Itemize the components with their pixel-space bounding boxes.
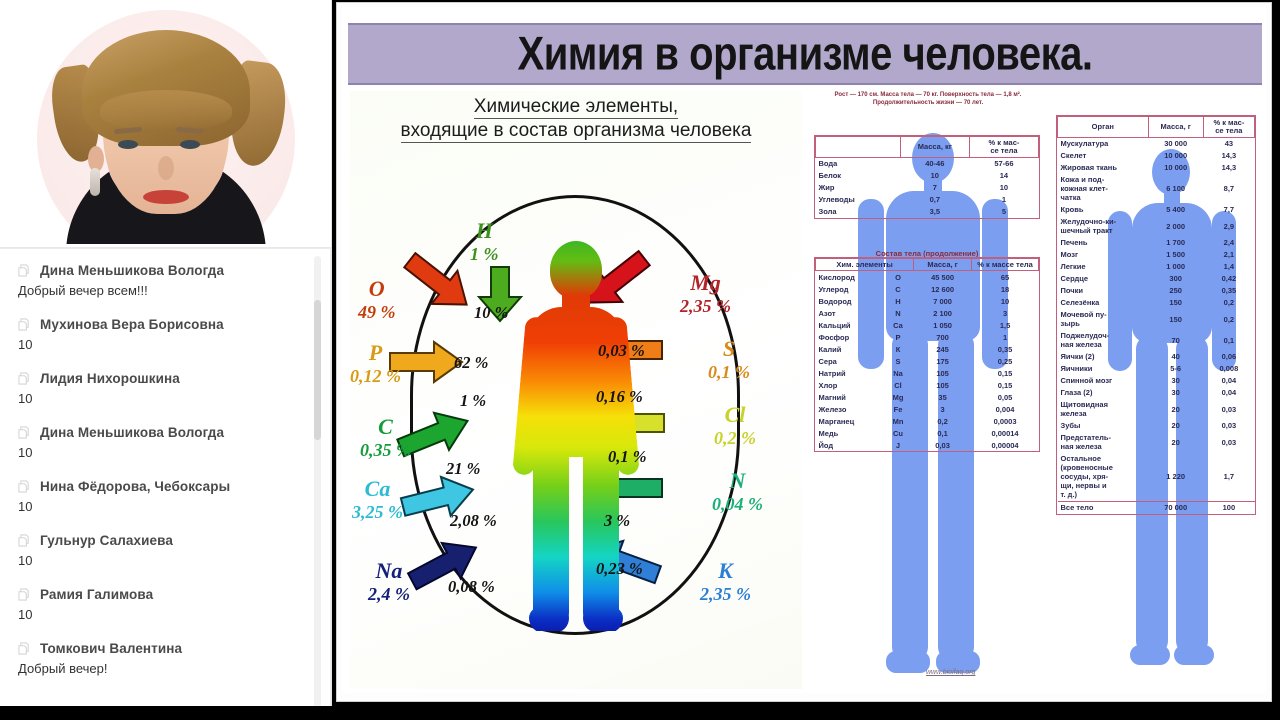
chat-scrollbar-thumb[interactable] <box>314 300 321 440</box>
inner-percent-O: 62 % <box>454 353 488 373</box>
cell-element-name: Магний <box>816 391 883 403</box>
avatar-earring <box>90 168 100 196</box>
cell-mass: 105 <box>914 379 972 391</box>
table-row: Щитовидная железа200,03 <box>1058 399 1255 420</box>
cell-element-symbol: Cu <box>882 427 913 439</box>
watermark: www.bioifaq.org <box>926 669 975 676</box>
slide-title: Химия в организме человека. <box>518 27 1093 80</box>
table-row: Почки2500,35 <box>1058 285 1255 297</box>
cell-element-symbol: К <box>882 343 913 355</box>
cell-percent: 0,15 <box>972 367 1039 379</box>
chat-message-list[interactable]: Дина Меньшикова ВологдаДобрый вечер всем… <box>0 248 331 720</box>
col-organ-mass: Масса, г <box>1148 117 1203 138</box>
cell-mass: 0,2 <box>914 415 972 427</box>
table-row: АзотN2 1003 <box>816 307 1039 319</box>
table-row: Поджелудоч- ная железа700,1 <box>1058 330 1255 351</box>
silhouette-foot-left <box>529 607 569 633</box>
body-composition-column: Рост — 170 см. Масса тела — 70 кг. Повер… <box>808 91 1048 689</box>
chat-message: 10 <box>18 553 316 568</box>
cell-value: 0,03 <box>1203 432 1254 453</box>
avatar-eye-right <box>180 140 200 149</box>
cell-value: 43 <box>1203 137 1254 150</box>
inner-percent-C: 21 % <box>446 459 480 479</box>
cell-value: 1 000 <box>1148 261 1203 273</box>
cell-value: 1 500 <box>1148 249 1203 261</box>
table-row: Яичники5-60,008 <box>1058 363 1255 375</box>
table-row: Углеводы0,71 <box>816 194 1039 206</box>
cell-value: 10 <box>969 182 1038 194</box>
arrow-P <box>390 341 464 383</box>
cell-percent: 3 <box>972 307 1039 319</box>
cell-value: 20 <box>1148 399 1203 420</box>
copy-icon[interactable] <box>18 642 31 656</box>
cell-percent: 0,15 <box>972 379 1039 391</box>
col-mass-g: Масса, г <box>914 259 972 271</box>
cell-value: 0,03 <box>1203 420 1254 432</box>
element-label-Na: Na 2,4 % <box>368 559 410 604</box>
chat-author: Нина Фёдорова, Чебоксары <box>40 479 230 494</box>
organ-table-column: Орган Масса, г % к мас- се тела Мускулат… <box>1054 91 1260 689</box>
cell-label: Глаза (2) <box>1058 387 1149 399</box>
inner-percent-N: 3 % <box>604 511 630 531</box>
cell-element-symbol: Mg <box>882 391 913 403</box>
table-header-row: Масса, кг % к мас- се тела <box>816 137 1039 158</box>
diagram-subtitle: Химические элементы, входящие в состав о… <box>350 95 802 144</box>
cell-value: 3,5 <box>900 206 969 218</box>
table-total-row: Все тело70 000100 <box>1058 501 1255 514</box>
table-row: Мускулатура30 00043 <box>1058 137 1255 150</box>
chat-author: Мухинова Вера Борисовна <box>40 317 224 332</box>
table-row: Остальное (кровеносные сосуды, хря- щи, … <box>1058 453 1255 502</box>
cell-value: 1 220 <box>1148 453 1203 502</box>
table-row: МедьCu0,10,00014 <box>816 427 1039 439</box>
element-label-H: H 1 % <box>470 219 499 264</box>
slide-title-banner: Химия в организме человека. <box>348 23 1262 85</box>
cell-value: 40 <box>1148 351 1203 363</box>
cell-value: 150 <box>1148 297 1203 309</box>
element-label-Ca: Ca 3,25 % <box>352 477 403 522</box>
chat-item[interactable]: Нина Фёдорова, Чебоксары10 <box>18 479 316 514</box>
copy-icon[interactable] <box>18 588 31 602</box>
element-label-O: O 49 % <box>358 277 396 322</box>
cell-label: Селезёнка <box>1058 297 1149 309</box>
element-label-S: S 0,1 % <box>708 337 750 382</box>
cell-value: 0,04 <box>1203 375 1254 387</box>
table-row: Мочевой пу- зырь1500,2 <box>1058 309 1255 330</box>
cell-mass: 1 050 <box>914 319 972 331</box>
cell-value: 1 <box>969 194 1038 206</box>
table-row: КислородО45 50065 <box>816 271 1039 284</box>
copy-icon[interactable] <box>18 372 31 386</box>
cell-label: Сердце <box>1058 273 1149 285</box>
element-label-P: P 0,12 % <box>350 341 401 386</box>
cell-value: 0,03 <box>1203 399 1254 420</box>
cell-value: 8,7 <box>1203 174 1254 204</box>
table-row: СераS1750,25 <box>816 355 1039 367</box>
cell-element-name: Марганец <box>816 415 883 427</box>
col-percent: % к мас- се тела <box>969 137 1038 158</box>
diagram-subtitle-line2: входящие в состав организма человека <box>401 120 752 143</box>
cell-element-symbol: Mn <box>882 415 913 427</box>
cell-value: 70 000 <box>1148 501 1203 514</box>
cell-element-symbol: Cl <box>882 379 913 391</box>
cell-value: 100 <box>1203 501 1254 514</box>
cell-value: 0,04 <box>1203 387 1254 399</box>
cell-mass: 35 <box>914 391 972 403</box>
cell-mass: 700 <box>914 331 972 343</box>
table-row: ЖелезоFe30,004 <box>816 403 1039 415</box>
chat-author: Томкович Валентина <box>40 641 182 656</box>
table-row: Жир710 <box>816 182 1039 194</box>
cell-value: 1,7 <box>1203 453 1254 502</box>
cell-label: Яички (2) <box>1058 351 1149 363</box>
inner-percent-K: 0,23 % <box>596 559 643 579</box>
cell-element-symbol: J <box>882 439 913 451</box>
copy-icon[interactable] <box>18 318 31 332</box>
table-row: Скелет10 00014,3 <box>1058 150 1255 162</box>
cell-element-name: Водород <box>816 295 883 307</box>
cell-mass: 245 <box>914 343 972 355</box>
chat-message: Добрый вечер всем!!! <box>18 283 316 298</box>
table-row: Яички (2)400,06 <box>1058 351 1255 363</box>
copy-icon[interactable] <box>18 534 31 548</box>
silhouette-leg-left <box>533 437 569 631</box>
table-row: Кожа и под- кожная клет- чатка6 1008,7 <box>1058 174 1255 204</box>
chat-item[interactable]: Мухинова Вера Борисовна10 <box>18 317 316 352</box>
table-row: Легкие1 0001,4 <box>1058 261 1255 273</box>
bottom-letterbox <box>0 706 1280 720</box>
cell-value: 14,3 <box>1203 162 1254 174</box>
cell-value: 7 <box>900 182 969 194</box>
avatar-eye-left <box>118 140 138 149</box>
cell-label: Мускулатура <box>1058 137 1149 150</box>
cell-mass: 45 500 <box>914 271 972 284</box>
inner-percent-Cl: 0,1 % <box>608 447 647 467</box>
col-mass: Масса, кг <box>900 137 969 158</box>
chat-message: Добрый вечер! <box>18 661 316 676</box>
cell-label: Жир <box>816 182 901 194</box>
cell-label: Спинной мозг <box>1058 375 1149 387</box>
table-row: Сердце3000,42 <box>1058 273 1255 285</box>
cell-value: 10 000 <box>1148 150 1203 162</box>
cell-value: 2,9 <box>1203 216 1254 237</box>
cell-element-name: Калий <box>816 343 883 355</box>
cell-value: 0,42 <box>1203 273 1254 285</box>
cell-element-symbol: S <box>882 355 913 367</box>
chat-item[interactable]: Дина Меньшикова ВологдаДобрый вечер всем… <box>18 263 316 298</box>
diagram-subtitle-line1: Химические элементы, <box>474 96 678 119</box>
cell-value: 7,7 <box>1203 204 1254 216</box>
chat-item[interactable]: Рамия Галимова10 <box>18 587 316 622</box>
cell-value: 10 <box>900 170 969 182</box>
cell-value: 20 <box>1148 432 1203 453</box>
chat-message: 10 <box>18 391 316 406</box>
col-organ: Орган <box>1058 117 1149 138</box>
cell-percent: 10 <box>972 295 1039 307</box>
cell-label: Желудочно-ки- шечный тракт <box>1058 216 1149 237</box>
cell-percent: 0,004 <box>972 403 1039 415</box>
cell-element-name: Кальций <box>816 319 883 331</box>
cell-value: 70 <box>1148 330 1203 351</box>
cell-percent: 1 <box>972 331 1039 343</box>
cell-element-name: Железо <box>816 403 883 415</box>
avatar-lips <box>143 190 189 204</box>
cell-element-symbol: С <box>882 283 913 295</box>
cell-value: 6 100 <box>1148 174 1203 204</box>
cell-element-symbol: Fe <box>882 403 913 415</box>
chat-message: 10 <box>18 337 316 352</box>
cell-label: Кожа и под- кожная клет- чатка <box>1058 174 1149 204</box>
table-row: Печень1 7002,4 <box>1058 237 1255 249</box>
table-row: МарганецMn0,20,0003 <box>816 415 1039 427</box>
cell-mass: 2 100 <box>914 307 972 319</box>
chat-message: 10 <box>18 499 316 514</box>
cell-mass: 12 600 <box>914 283 972 295</box>
cell-percent: 0,25 <box>972 355 1039 367</box>
inner-percent-Na: 0,08 % <box>448 577 495 597</box>
table-row: Зубы200,03 <box>1058 420 1255 432</box>
element-label-Mg: Mg 2,35 % <box>680 271 731 316</box>
cell-element-name: Натрий <box>816 367 883 379</box>
cell-element-name: Йод <box>816 439 883 451</box>
cell-element-symbol: О <box>882 271 913 284</box>
chat-item[interactable]: Лидия Нихорошкина10 <box>18 371 316 406</box>
inner-percent-S: 0,16 % <box>596 387 643 407</box>
inner-percent-Mg: 0,03 % <box>598 341 645 361</box>
table-row: КалийК2450,35 <box>816 343 1039 355</box>
cell-mass: 3 <box>914 403 972 415</box>
chat-item[interactable]: Гульнур Салахиева10 <box>18 533 316 568</box>
cell-value: 1 700 <box>1148 237 1203 249</box>
cell-label: Все тело <box>1058 501 1149 514</box>
cell-mass: 7 000 <box>914 295 972 307</box>
cell-label: Мозг <box>1058 249 1149 261</box>
avatar-nose <box>158 156 174 180</box>
cell-element-name: Фосфор <box>816 331 883 343</box>
cell-value: 250 <box>1148 285 1203 297</box>
silhouette-foot-right <box>583 607 623 633</box>
element-diagram: Химические элементы, входящие в состав о… <box>350 91 802 689</box>
cell-element-name: Сера <box>816 355 883 367</box>
table-row: Селезёнка1500,2 <box>1058 297 1255 309</box>
cell-label: Белок <box>816 170 901 182</box>
cell-value: 0,2 <box>1203 309 1254 330</box>
cell-value: 0,1 <box>1203 330 1254 351</box>
cell-value: 30 000 <box>1148 137 1203 150</box>
cell-percent: 1,5 <box>972 319 1039 331</box>
cell-element-name: Кислород <box>816 271 883 284</box>
cell-percent: 0,00014 <box>972 427 1039 439</box>
copy-icon[interactable] <box>18 264 31 278</box>
col-organ-percent: % к мас- се тела <box>1203 117 1254 138</box>
cell-value: 1,4 <box>1203 261 1254 273</box>
cell-label: Печень <box>1058 237 1149 249</box>
col-name <box>816 137 901 158</box>
table-organs: Орган Масса, г % к мас- се тела Мускулат… <box>1056 115 1256 515</box>
cell-label: Зубы <box>1058 420 1149 432</box>
cell-value: 0,2 <box>1203 297 1254 309</box>
cell-element-symbol: Р <box>882 331 913 343</box>
cell-value: 2 000 <box>1148 216 1203 237</box>
chat-message: 10 <box>18 445 316 460</box>
application-window: Дина Меньшикова ВологдаДобрый вечер всем… <box>0 0 1280 720</box>
inner-percent-H: 10 % <box>474 303 508 323</box>
cell-percent: 0,35 <box>972 343 1039 355</box>
chat-author: Дина Меньшикова Вологда <box>40 263 224 278</box>
cell-element-name: Медь <box>816 427 883 439</box>
cell-value: 150 <box>1148 309 1203 330</box>
cell-mass: 105 <box>914 367 972 379</box>
cell-percent: 0,0003 <box>972 415 1039 427</box>
cell-value: 2,4 <box>1203 237 1254 249</box>
presenter-avatar-card <box>0 0 332 248</box>
table-row: Спинной мозг300,04 <box>1058 375 1255 387</box>
table-row: ВодородН7 00010 <box>816 295 1039 307</box>
cell-element-symbol: Са <box>882 319 913 331</box>
cell-label: Поджелудоч- ная железа <box>1058 330 1149 351</box>
table-header-row: Орган Масса, г % к мас- се тела <box>1058 117 1255 138</box>
col-element: Хим. элементы <box>816 259 914 271</box>
presentation-stage: Химия в организме человека. Химические э… <box>332 0 1280 720</box>
chat-author: Гульнур Салахиева <box>40 533 173 548</box>
body-stats-header: Рост — 170 см. Масса тела — 70 кг. Повер… <box>808 91 1048 107</box>
cell-label: Остальное (кровеносные сосуды, хря- щи, … <box>1058 453 1149 502</box>
cell-element-name: Азот <box>816 307 883 319</box>
cell-value: 14,3 <box>1203 150 1254 162</box>
table-row: МагнийMg350,05 <box>816 391 1039 403</box>
cell-label: Предстатель- ная железа <box>1058 432 1149 453</box>
cell-value: 0,06 <box>1203 351 1254 363</box>
table-elements: Хим. элементы Масса, г % к массе тела Ки… <box>814 257 1040 452</box>
slide-frame: Химия в организме человека. Химические э… <box>336 2 1272 702</box>
cell-label: Почки <box>1058 285 1149 297</box>
table-row: ХлорCl1050,15 <box>816 379 1039 391</box>
table-row: Кровь5 4007,7 <box>1058 204 1255 216</box>
cell-percent: 18 <box>972 283 1039 295</box>
inner-percent-P: 1 % <box>460 391 486 411</box>
table-row: Вода40-4657-66 <box>816 157 1039 170</box>
table-body-composition: Масса, кг % к мас- се тела Вода40-4657-6… <box>814 135 1040 219</box>
silhouette-torso <box>528 307 624 457</box>
cell-value: 30 <box>1148 375 1203 387</box>
col-percent-mass: % к массе тела <box>972 259 1039 271</box>
table-row: Желудочно-ки- шечный тракт2 0002,9 <box>1058 216 1255 237</box>
inner-percent-Ca: 2,08 % <box>450 511 497 531</box>
left-sidebar: Дина Меньшикова ВологдаДобрый вечер всем… <box>0 0 332 720</box>
table-row: УглеродС12 60018 <box>816 283 1039 295</box>
cell-value: 5 <box>969 206 1038 218</box>
cell-percent: 0,05 <box>972 391 1039 403</box>
cell-label: Углеводы <box>816 194 901 206</box>
table-row: НатрийNa1050,15 <box>816 367 1039 379</box>
cell-value: 40-46 <box>900 157 969 170</box>
slide-content: Химия в организме человека. Химические э… <box>342 7 1266 693</box>
cell-element-symbol: Na <box>882 367 913 379</box>
chat-author: Лидия Нихорошкина <box>40 371 180 386</box>
cell-mass: 0,03 <box>914 439 972 451</box>
cell-value: 0,008 <box>1203 363 1254 375</box>
table-row: Мозг1 5002,1 <box>1058 249 1255 261</box>
table-row: ЙодJ0,030,00004 <box>816 439 1039 451</box>
cell-value: 0,7 <box>900 194 969 206</box>
cell-value: 14 <box>969 170 1038 182</box>
cell-value: 300 <box>1148 273 1203 285</box>
cell-value: 2,1 <box>1203 249 1254 261</box>
element-label-C: C 0,35 % <box>360 415 411 460</box>
cell-label: Скелет <box>1058 150 1149 162</box>
element-label-K: K 2,35 % <box>700 559 751 604</box>
cell-value: 30 <box>1148 387 1203 399</box>
table-row: Зола3,55 <box>816 206 1039 218</box>
cell-value: 5 400 <box>1148 204 1203 216</box>
table-row: Глаза (2)300,04 <box>1058 387 1255 399</box>
element-label-N: N 0,04 % <box>712 469 763 514</box>
cell-label: Вода <box>816 157 901 170</box>
cell-percent: 0,00004 <box>972 439 1039 451</box>
table-row: Предстатель- ная железа200,03 <box>1058 432 1255 453</box>
cell-label: Кровь <box>1058 204 1149 216</box>
table-row: Жировая ткань10 00014,3 <box>1058 162 1255 174</box>
cell-value: 0,35 <box>1203 285 1254 297</box>
cell-element-symbol: Н <box>882 295 913 307</box>
cell-mass: 0,1 <box>914 427 972 439</box>
cell-element-name: Хлор <box>816 379 883 391</box>
cell-mass: 175 <box>914 355 972 367</box>
cell-percent: 65 <box>972 271 1039 284</box>
copy-icon[interactable] <box>18 426 31 440</box>
cell-element-symbol: N <box>882 307 913 319</box>
copy-icon[interactable] <box>18 480 31 494</box>
cell-value: 57-66 <box>969 157 1038 170</box>
table-row: КальцийСа1 0501,5 <box>816 319 1039 331</box>
chat-author: Дина Меньшикова Вологда <box>40 425 224 440</box>
cell-label: Легкие <box>1058 261 1149 273</box>
cell-label: Щитовидная железа <box>1058 399 1149 420</box>
chat-item[interactable]: Дина Меньшикова Вологда10 <box>18 425 316 460</box>
chat-message: 10 <box>18 607 316 622</box>
element-label-Cl: Cl 0,2 % <box>714 403 756 448</box>
table-row: ФосфорР7001 <box>816 331 1039 343</box>
cell-value: 20 <box>1148 420 1203 432</box>
cell-label: Мочевой пу- зырь <box>1058 309 1149 330</box>
chat-author: Рамия Галимова <box>40 587 153 602</box>
chat-item[interactable]: Томкович ВалентинаДобрый вечер! <box>18 641 316 676</box>
table-header-row: Хим. элементы Масса, г % к массе тела <box>816 259 1039 271</box>
table-row: Белок1014 <box>816 170 1039 182</box>
cell-label: Зола <box>816 206 901 218</box>
cell-element-name: Углерод <box>816 283 883 295</box>
cell-value: 5-6 <box>1148 363 1203 375</box>
cell-value: 10 000 <box>1148 162 1203 174</box>
avatar-fringe <box>100 90 232 130</box>
cell-label: Яичники <box>1058 363 1149 375</box>
cell-label: Жировая ткань <box>1058 162 1149 174</box>
avatar <box>30 4 302 244</box>
